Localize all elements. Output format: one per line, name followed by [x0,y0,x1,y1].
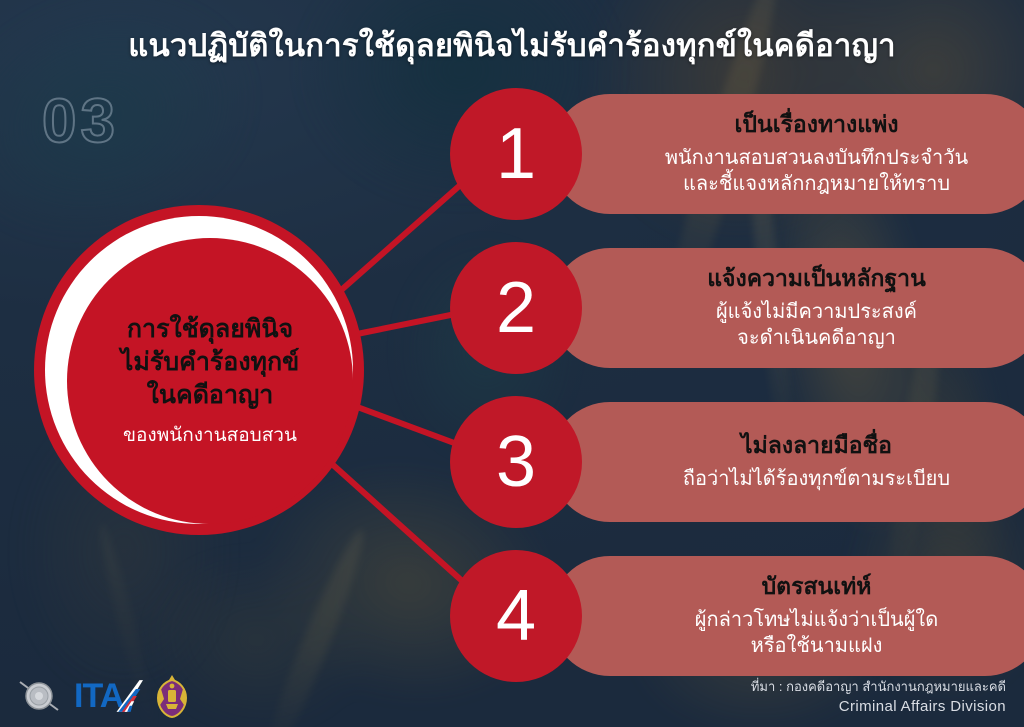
hub-subtitle: ของพนักงานสอบสวน [123,420,297,450]
item-number-circle-1: 1 [450,88,582,220]
source-text-thai: ที่มา : กองคดีอาญา สำนักงานกฎหมายและคดี [751,678,1006,696]
item-body-1-line-2: และชี้แจงหลักกฎหมายให้ทราบ [683,171,950,197]
item-pill-3: ไม่ลงลายมือชื่อ ถือว่าไม่ได้ร้องทุกข์ตาม… [550,402,1024,522]
item-heading-1: เป็นเรื่องทางแพ่ง [735,111,899,139]
item-body-3-line-1: ถือว่าไม่ได้ร้องทุกข์ตามระเบียบ [683,466,950,492]
item-body-2-line-2: จะดำเนินคดีอาญา [737,325,896,351]
footer-source: ที่มา : กองคดีอาญา สำนักงานกฎหมายและคดี … [751,678,1006,717]
ita-logo: ITA [74,676,143,716]
royal-thai-police-seal-icon [16,673,62,719]
list-item: แจ้งความเป็นหลักฐาน ผู้แจ้งไม่มีความประส… [450,242,1010,374]
list-item: ไม่ลงลายมือชื่อ ถือว่าไม่ได้ร้องทุกข์ตาม… [450,396,1010,528]
hub-title-line-1: การใช้ดุลยพินิจ [127,313,293,346]
hub-title-line-2: ไม่รับคำร้องทุกข์ [121,346,299,379]
source-text-english: Criminal Affairs Division [751,696,1006,717]
garuda-emblem-icon [155,673,189,719]
item-number-circle-2: 2 [450,242,582,374]
hub-inner-circle: การใช้ดุลยพินิจ ไม่รับคำร้องทุกข์ ในคดีอ… [67,238,353,524]
item-body-1-line-1: พนักงานสอบสวนลงบันทึกประจำวัน [665,145,968,171]
hub-title-line-3: ในคดีอาญา [147,379,274,412]
item-pill-4: บัตรสนเท่ห์ ผู้กล่าวโทษไม่แจ้งว่าเป็นผู้… [550,556,1024,676]
list-item: เป็นเรื่องทางแพ่ง พนักงานสอบสวนลงบันทึกป… [450,88,1010,220]
item-heading-2: แจ้งความเป็นหลักฐาน [707,265,926,293]
infographic-canvas: แนวปฏิบัติในการใช้ดุลยพินิจไม่รับคำร้องท… [0,0,1024,727]
item-heading-3: ไม่ลงลายมือชื่อ [741,432,892,460]
item-body-4-line-2: หรือใช้นามแฝง [751,633,883,659]
item-pill-1: เป็นเรื่องทางแพ่ง พนักงานสอบสวนลงบันทึกป… [550,94,1024,214]
list-item: บัตรสนเท่ห์ ผู้กล่าวโทษไม่แจ้งว่าเป็นผู้… [450,550,1010,682]
footer-logos: ITA [16,673,189,719]
item-pill-2: แจ้งความเป็นหลักฐาน ผู้แจ้งไม่มีความประส… [550,248,1024,368]
item-number-circle-4: 4 [450,550,582,682]
item-number-circle-3: 3 [450,396,582,528]
item-body-4-line-1: ผู้กล่าวโทษไม่แจ้งว่าเป็นผู้ใด [695,607,938,633]
hub-white-ring: การใช้ดุลยพินิจ ไม่รับคำร้องทุกข์ ในคดีอ… [45,216,353,524]
item-body-2-line-1: ผู้แจ้งไม่มีความประสงค์ [716,299,917,325]
item-heading-4: บัตรสนเท่ห์ [762,573,872,601]
center-hub: การใช้ดุลยพินิจ ไม่รับคำร้องทุกข์ ในคดีอ… [34,205,364,535]
